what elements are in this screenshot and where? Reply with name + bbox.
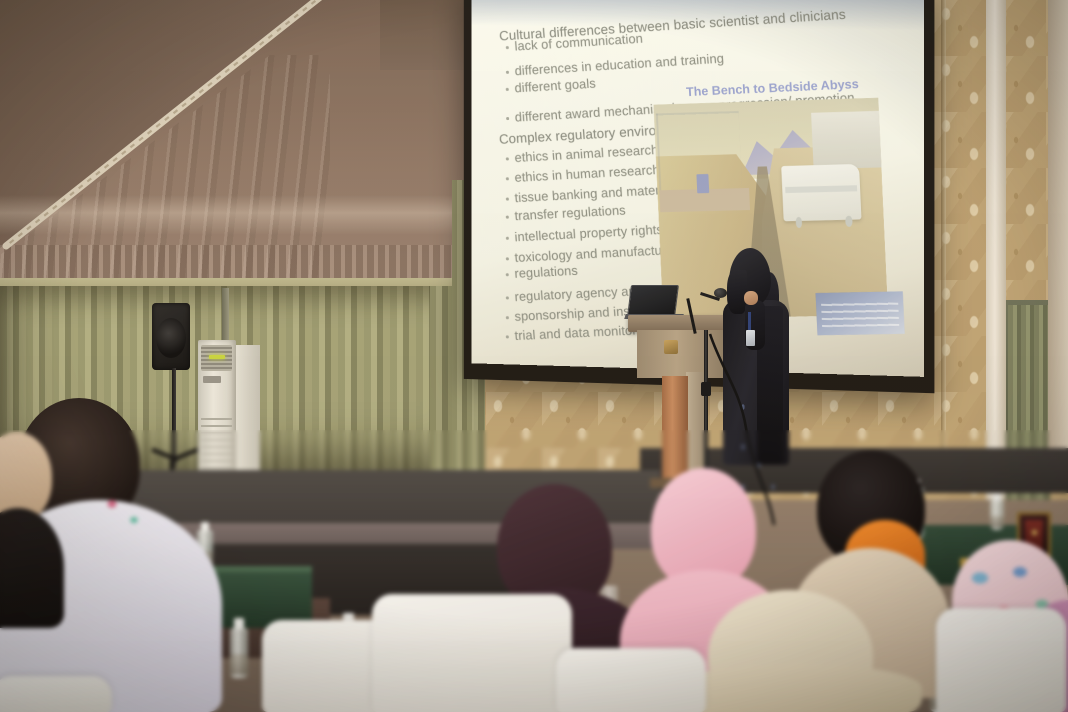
podium-column xyxy=(662,376,688,486)
power-indicator-icon xyxy=(209,355,225,359)
slide-thumbnail-image xyxy=(816,291,905,335)
podium-emblem-icon xyxy=(664,340,678,354)
banquet-chair[interactable] xyxy=(936,608,1066,712)
slide-bullet: ethics in human research xyxy=(514,162,660,185)
air-conditioner-control-panel[interactable] xyxy=(203,376,221,383)
banquet-chair[interactable] xyxy=(372,594,572,712)
slide-bullet: intellectual property rights xyxy=(514,222,663,245)
presenter-hijab-front xyxy=(727,270,747,314)
wall-seam xyxy=(941,0,946,470)
water-bottle xyxy=(990,500,1004,530)
banquet-chair[interactable] xyxy=(556,648,706,712)
floral-hijab-head-left xyxy=(98,486,156,544)
laptop-screen[interactable] xyxy=(627,285,679,317)
cream-hijab-shoulders xyxy=(672,664,922,712)
microphone-icon xyxy=(714,288,727,298)
air-conditioner-side-panel xyxy=(236,345,260,485)
presenter-lanyard xyxy=(748,312,751,332)
slide-bullet-cont: transfer regulations xyxy=(514,202,626,223)
banquet-chair[interactable] xyxy=(0,676,112,712)
slide-bullet: toxicology and manufacturing xyxy=(514,241,684,264)
speaker-stand-pole xyxy=(172,368,176,468)
slide-bullet: ethics in animal research xyxy=(514,142,659,165)
air-conditioner-pipe xyxy=(222,288,229,343)
pa-speaker-cone xyxy=(156,318,186,358)
slide-bullet: tissue banking and material xyxy=(514,182,673,205)
ceiling-rope-line xyxy=(0,0,492,294)
conference-photo: Cultural differences between basic scien… xyxy=(0,0,1068,712)
water-bottle xyxy=(230,628,248,678)
slide-bullet-cont: regulations xyxy=(514,263,578,281)
slide-thumbnail-washout xyxy=(816,291,905,335)
wall-trim-column-left xyxy=(986,0,1006,500)
presenter-hand xyxy=(744,291,758,305)
wall-trim-column-right xyxy=(1048,0,1068,470)
slide-bullet: differences in education and training xyxy=(514,51,724,79)
slide-bullet: different goals xyxy=(514,76,596,96)
